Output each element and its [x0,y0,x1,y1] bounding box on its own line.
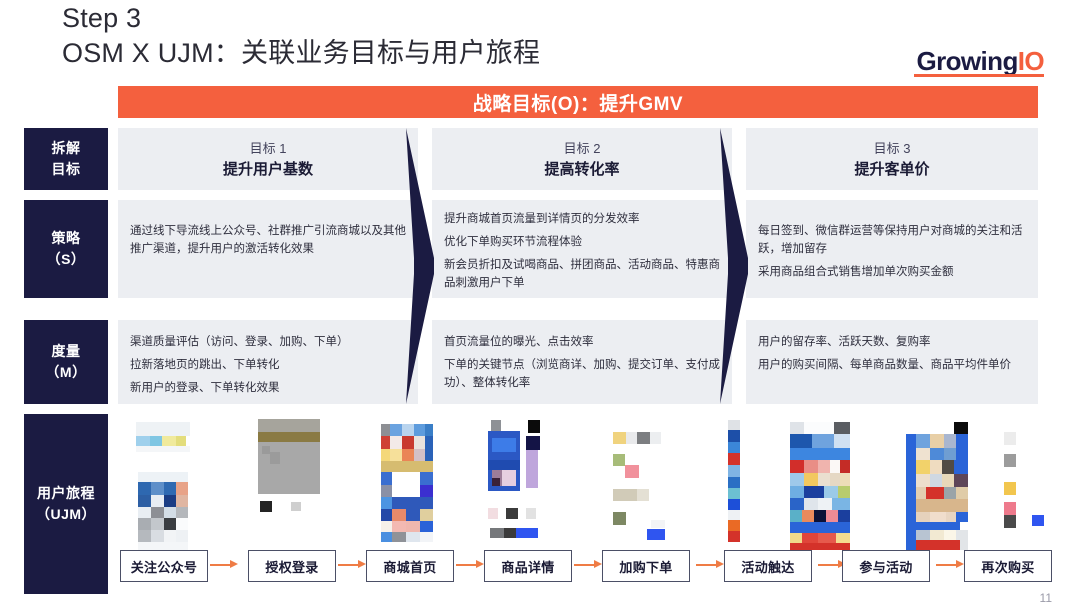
journey-thumbnail-9 [1004,432,1044,540]
objective-banner: 战略目标(O)：提升GMV [118,86,1038,118]
goal-name-label: 提高转化率 [544,160,619,179]
slide-root: Step 3 OSM X UJM：关联业务目标与用户旅程 GrowingIO 战… [0,0,1080,609]
goal-index-label: 目标 1 [250,140,287,157]
metric-item: 首页流量位的曝光、点击效率 [444,333,720,351]
rail-label-user-journey: 用户旅程 （UJM） [24,414,108,594]
rail-label-metric: 度量 （M） [24,320,108,404]
goal-header-3: 目标 3 提升客单价 [746,128,1038,190]
strategy-item: 每日签到、微信群运营等保持用户对商城的关注和活跃，增加留存 [758,222,1026,258]
strategy-item: 优化下单购买环节流程体验 [444,233,720,251]
rail-label-line1: 度量 [52,341,81,362]
journey-thumbnail-5 [613,432,665,540]
journey-thumbnail-2 [258,419,320,511]
arrow-right-icon-2 [338,563,368,567]
journey-step-1[interactable]: 关注公众号 [120,550,208,582]
arrow-right-icon-1 [210,563,240,567]
metric-item: 用户的留存率、活跃天数、复购率 [758,333,1026,351]
growingio-logo: GrowingIO [917,46,1045,76]
rail-label-line1: 策略 [52,228,81,249]
metric-cell-2: 首页流量位的曝光、点击效率 下单的关键节点（浏览商详、加购、提交订单、支付成功）… [432,320,732,404]
rail-label-decompose-goal: 拆解 目标 [24,128,108,190]
journey-thumbnail-7 [790,422,850,550]
user-journey-thumbnails [118,414,1038,540]
rail-label-line2: 目标 [52,159,81,180]
journey-thumbnail-6 [728,420,770,542]
goal-index-label: 目标 3 [874,140,911,157]
journey-steps: 关注公众号 授权登录 商城首页 商品详情 加购下单 活动触达 参与活动 再次购买 [118,550,1038,580]
rail-label-line1: 拆解 [52,138,81,159]
metric-item: 用户的购买间隔、每单商品数量、商品平均件单价 [758,356,1026,374]
journey-step-6[interactable]: 活动触达 [724,550,812,582]
metric-cell-1: 渠道质量评估（访问、登录、加购、下单） 拉新落地页的跳出、下单转化 新用户的登录… [118,320,418,404]
journey-step-3[interactable]: 商城首页 [366,550,454,582]
step-label: Step 3 [62,2,540,35]
journey-thumbnail-4 [488,420,540,542]
arrow-right-icon-3 [456,563,486,567]
page-title: Step 3 OSM X UJM：关联业务目标与用户旅程 [62,2,540,71]
journey-step-5[interactable]: 加购下单 [602,550,690,582]
arrow-right-icon-4 [574,563,604,567]
journey-thumbnail-8 [906,422,968,550]
metric-item: 新用户的登录、下单转化效果 [130,379,406,397]
arrow-right-icon-7 [936,563,966,567]
metric-item: 拉新落地页的跳出、下单转化 [130,356,406,374]
strategy-item: 采用商品组合式销售增加单次购买金额 [758,263,1026,281]
journey-step-7[interactable]: 参与活动 [842,550,930,582]
logo-accent-text: IO [1018,46,1044,76]
page-number: 11 [1040,591,1052,605]
rail-label-strategy: 策略 （S） [24,200,108,298]
rail-label-line2: （S） [47,249,86,270]
goal-name-label: 提升用户基数 [223,160,313,179]
slide-title: OSM X UJM：关联业务目标与用户旅程 [62,35,540,71]
strategy-cell-3: 每日签到、微信群运营等保持用户对商城的关注和活跃，增加留存 采用商品组合式销售增… [746,200,1038,298]
strategy-item: 通过线下导流线上公众号、社群推广引流商城以及其他推广渠道，提升用户的激活转化效果 [130,222,406,258]
journey-step-8[interactable]: 再次购买 [964,550,1052,582]
goal-name-label: 提升客单价 [854,160,929,179]
logo-main-text: Growing [917,46,1018,76]
goal-header-2: 目标 2 提高转化率 [432,128,732,190]
strategy-item: 提升商城首页流量到详情页的分发效率 [444,210,720,228]
goal-header-1: 目标 1 提升用户基数 [118,128,418,190]
metric-item: 下单的关键节点（浏览商详、加购、提交订单、支付成功）、整体转化率 [444,356,720,392]
metric-cell-3: 用户的留存率、活跃天数、复购率 用户的购买间隔、每单商品数量、商品平均件单价 [746,320,1038,404]
journey-step-4[interactable]: 商品详情 [484,550,572,582]
rail-label-line2: （UJM） [36,504,96,525]
journey-step-2[interactable]: 授权登录 [248,550,336,582]
logo-underline [914,74,1044,77]
metric-item: 渠道质量评估（访问、登录、加购、下单） [130,333,406,351]
rail-label-line2: （M） [45,362,86,383]
arrow-right-icon-5 [696,563,726,567]
goal-index-label: 目标 2 [564,140,601,157]
strategy-cell-1: 通过线下导流线上公众号、社群推广引流商城以及其他推广渠道，提升用户的激活转化效果 [118,200,418,298]
journey-thumbnail-1 [136,422,190,550]
strategy-item: 新会员折扣及试喝商品、拼团商品、活动商品、特惠商品刺激用户下单 [444,256,720,292]
strategy-cell-2: 提升商城首页流量到详情页的分发效率 优化下单购买环节流程体验 新会员折扣及试喝商… [432,200,732,298]
journey-thumbnail-3 [381,424,433,542]
rail-label-line1: 用户旅程 [37,483,95,504]
